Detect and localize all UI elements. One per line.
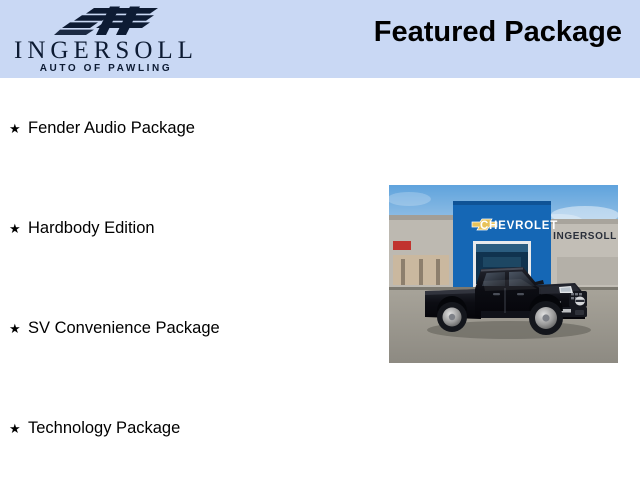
svg-text:INGERSOLL: INGERSOLL <box>553 231 617 242</box>
page-title: Featured Package <box>374 16 622 49</box>
brand-logo[interactable]: INGERSOLL AUTO OF PAWLING <box>6 2 206 76</box>
list-item: ★ Hardbody Edition <box>9 220 155 237</box>
ingersoll-winged-emblem-icon <box>54 6 166 36</box>
feature-label: Technology Package <box>28 420 180 437</box>
star-icon: ★ <box>9 422 28 435</box>
list-item: ★ Fender Audio Package <box>9 120 195 137</box>
page-header: INGERSOLL AUTO OF PAWLING Featured Packa… <box>0 0 640 78</box>
brand-tagline: AUTO OF PAWLING <box>8 64 204 74</box>
feature-label: Fender Audio Package <box>28 120 195 137</box>
feature-label: SV Convenience Package <box>28 320 220 337</box>
star-icon: ★ <box>9 122 28 135</box>
list-item: ★ SV Convenience Package <box>9 320 220 337</box>
list-item: ★ Technology Package <box>9 420 180 437</box>
brand-name: INGERSOLL <box>8 38 204 63</box>
star-icon: ★ <box>9 322 28 335</box>
svg-text:CHEVROLET: CHEVROLET <box>480 220 558 232</box>
vehicle-photo: INGERSOLL CHEVROLET <box>389 185 618 363</box>
featured-package-list: ★ Fender Audio Package ★ Hardbody Editio… <box>0 78 380 480</box>
feature-label: Hardbody Edition <box>28 220 155 237</box>
star-icon: ★ <box>9 222 28 235</box>
